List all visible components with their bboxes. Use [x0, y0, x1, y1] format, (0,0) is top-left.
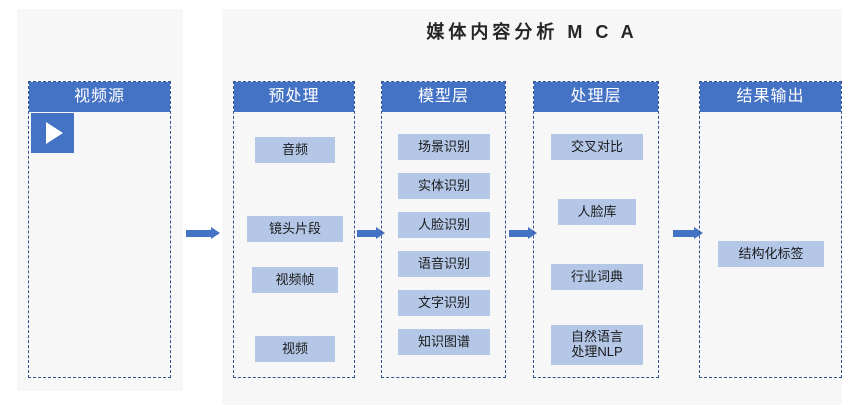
diagram-title: 媒体内容分析 M C A — [222, 18, 842, 44]
chip-preprocess-3[interactable]: 视频 — [255, 336, 335, 362]
diagram-canvas: 媒体内容分析 M C A 视频源 预处理 音频 镜头片段 视频帧 视频 模型层 … — [0, 0, 859, 411]
column-header-preprocess: 预处理 — [234, 82, 354, 112]
chip-model-4[interactable]: 文字识别 — [398, 290, 490, 316]
chip-process-3[interactable]: 自然语言 处理NLP — [551, 325, 643, 365]
arrow-source-to-preprocess — [186, 227, 220, 239]
column-body-preprocess: 音频 镜头片段 视频帧 视频 — [234, 112, 354, 377]
arrow-shaft — [186, 230, 211, 237]
chip-preprocess-0[interactable]: 音频 — [255, 137, 335, 163]
column-body-model-layer: 场景识别 实体识别 人脸识别 语音识别 文字识别 知识图谱 — [382, 112, 505, 377]
column-result-output[interactable]: 结果输出 结构化标签 — [699, 81, 842, 378]
chip-process-1[interactable]: 人脸库 — [558, 199, 636, 225]
chip-process-0[interactable]: 交叉对比 — [551, 134, 643, 160]
column-header-model-layer: 模型层 — [382, 82, 505, 112]
column-preprocess[interactable]: 预处理 音频 镜头片段 视频帧 视频 — [233, 81, 355, 378]
column-header-process-layer: 处理层 — [534, 82, 658, 112]
column-model-layer[interactable]: 模型层 场景识别 实体识别 人脸识别 语音识别 文字识别 知识图谱 — [381, 81, 506, 378]
chip-model-1[interactable]: 实体识别 — [398, 173, 490, 199]
arrow-head-icon — [211, 227, 220, 239]
column-process-layer[interactable]: 处理层 交叉对比 人脸库 行业词典 自然语言 处理NLP — [533, 81, 659, 378]
column-body-process-layer: 交叉对比 人脸库 行业词典 自然语言 处理NLP — [534, 112, 658, 377]
arrow-shaft — [357, 230, 376, 237]
chip-model-5[interactable]: 知识图谱 — [398, 329, 490, 355]
arrow-shaft — [673, 230, 694, 237]
column-header-result-output: 结果输出 — [700, 82, 841, 112]
arrow-shaft — [509, 230, 528, 237]
chip-preprocess-2[interactable]: 视频帧 — [252, 267, 338, 293]
column-header-video-source: 视频源 — [29, 82, 170, 112]
chip-preprocess-1[interactable]: 镜头片段 — [247, 216, 343, 242]
chip-process-2[interactable]: 行业词典 — [551, 264, 643, 290]
play-button-icon[interactable] — [31, 113, 74, 153]
play-triangle-icon — [46, 122, 63, 144]
column-body-result-output: 结构化标签 — [700, 112, 841, 377]
chip-output-0[interactable]: 结构化标签 — [718, 241, 824, 267]
chip-model-2[interactable]: 人脸识别 — [398, 212, 490, 238]
chip-model-3[interactable]: 语音识别 — [398, 251, 490, 277]
chip-model-0[interactable]: 场景识别 — [398, 134, 490, 160]
